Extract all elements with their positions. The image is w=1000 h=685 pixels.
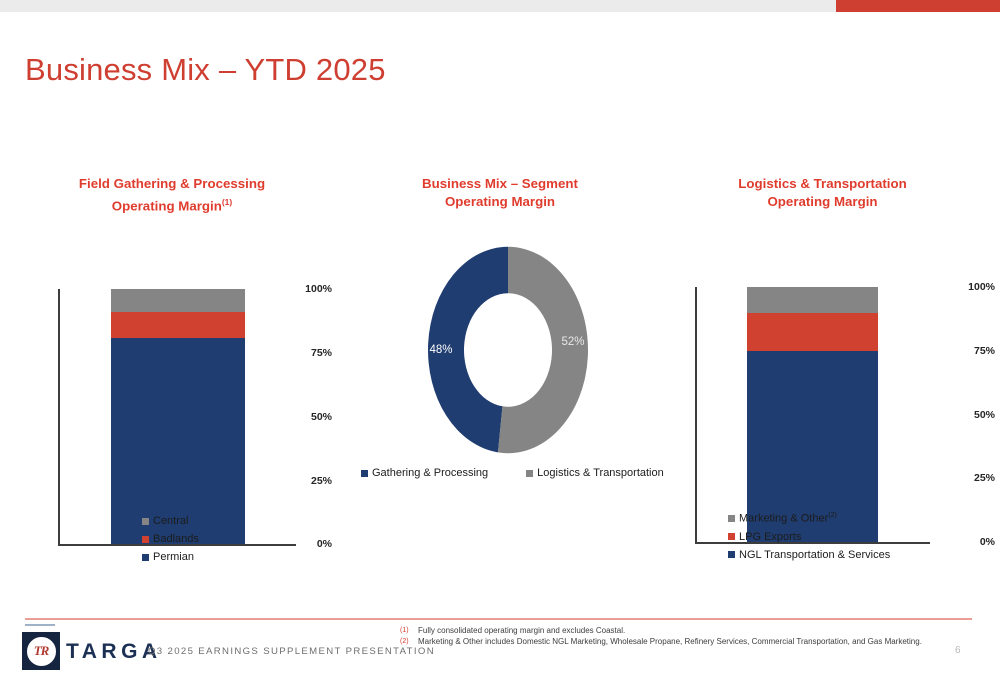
y-tick-1-25: 25% <box>290 475 332 487</box>
legend-label: Marketing & Other(2) <box>739 512 837 525</box>
top-bar-red-accent <box>836 0 1000 12</box>
footnote-text-1: Fully consolidated operating margin and … <box>418 626 625 635</box>
bar-segment-central[interactable] <box>111 289 245 312</box>
footnote-text-2: Marketing & Other includes Domestic NGL … <box>418 637 922 646</box>
targa-logo-icon: TR <box>22 632 60 670</box>
chart-panel-field-gathering: Field Gathering & Processing Operating M… <box>12 175 332 527</box>
legend-item-logistics-transportation[interactable]: Logistics & Transportation <box>526 467 664 479</box>
legend-label: Badlands <box>153 533 199 545</box>
legend-label: Permian <box>153 551 194 563</box>
top-bar-gray <box>0 0 836 12</box>
page-number: 6 <box>955 645 961 656</box>
y-tick-3-0: 0% <box>954 536 995 548</box>
chart-title-1-line1: Field Gathering & Processing <box>79 176 265 191</box>
legend-chart-1: Central Badlands Permian <box>142 515 199 569</box>
legend-swatch-icon <box>142 554 149 561</box>
legend-swatch-icon <box>526 470 533 477</box>
y-tick-1-100: 100% <box>290 283 332 295</box>
footnotes-block: (1) Fully consolidated operating margin … <box>400 626 922 648</box>
footer-divider-red <box>25 618 972 620</box>
legend-item-central[interactable]: Central <box>142 515 199 527</box>
footnote-row-2: (2) Marketing & Other includes Domestic … <box>400 637 922 646</box>
stacked-bar-3[interactable] <box>747 287 878 542</box>
footnote-marker-1: (1) <box>400 626 418 634</box>
chart-title-2-line1: Business Mix – Segment <box>422 176 578 191</box>
footnote-marker-2: (2) <box>400 637 418 645</box>
y-tick-3-50: 50% <box>954 409 995 421</box>
y-tick-1-0: 0% <box>290 538 332 550</box>
page-title: Business Mix – YTD 2025 <box>25 52 386 88</box>
y-axis-line-1 <box>58 289 60 544</box>
legend-chart-3: Marketing & Other(2) LPG Exports NGL Tra… <box>728 512 890 567</box>
legend-footnote-marker: (2) <box>828 512 837 519</box>
legend-label: NGL Transportation & Services <box>739 549 890 561</box>
bar-segment-badlands[interactable] <box>111 312 245 338</box>
legend-item-lpg-exports[interactable]: LPG Exports <box>728 531 890 543</box>
y-tick-3-100: 100% <box>954 281 995 293</box>
legend-item-ngl-transportation[interactable]: NGL Transportation & Services <box>728 549 890 561</box>
chart-title-3-line1: Logistics & Transportation <box>738 176 906 191</box>
legend-swatch-icon <box>728 533 735 540</box>
legend-label: Logistics & Transportation <box>537 467 664 479</box>
legend-label: LPG Exports <box>739 531 801 543</box>
chart-title-3-line2: Operating Margin <box>767 194 877 209</box>
legend-swatch-icon <box>728 515 735 522</box>
y-tick-3-75: 75% <box>954 345 995 357</box>
bar-chart-3: 100% 75% 50% 25% 0% <box>650 223 995 523</box>
slide-canvas: Business Mix – YTD 2025 Field Gathering … <box>0 0 1000 685</box>
footnote-row-1: (1) Fully consolidated operating margin … <box>400 626 922 635</box>
legend-label: Gathering & Processing <box>372 467 488 479</box>
chart-title-3: Logistics & Transportation Operating Mar… <box>650 175 995 211</box>
deck-name-label: Q3 2025 EARNINGS SUPPLEMENT PRESENTATION <box>148 646 435 657</box>
legend-label-text: Marketing & Other <box>739 513 828 525</box>
y-axis-line-3 <box>695 287 697 542</box>
y-tick-3-25: 25% <box>954 472 995 484</box>
legend-swatch-icon <box>142 536 149 543</box>
stacked-bar-1[interactable] <box>111 289 245 544</box>
chart-panel-logistics-transportation: Logistics & Transportation Operating Mar… <box>650 175 995 523</box>
chart-title-1-line2: Operating Margin <box>112 198 222 213</box>
legend-swatch-icon <box>728 551 735 558</box>
donut-value-label-gathering: 48% <box>429 344 452 356</box>
legend-chart-2: Gathering & Processing Logistics & Trans… <box>361 467 664 479</box>
bar-segment-permian[interactable] <box>111 338 245 545</box>
donut-svg <box>355 233 645 463</box>
donut-chart-2: 48% 52% <box>355 233 645 463</box>
donut-value-label-logistics: 52% <box>561 336 584 348</box>
bar-segment-marketing-other[interactable] <box>747 287 878 313</box>
legend-item-marketing-other[interactable]: Marketing & Other(2) <box>728 512 890 525</box>
legend-item-gathering-processing[interactable]: Gathering & Processing <box>361 467 488 479</box>
bar-segment-lpg-exports[interactable] <box>747 313 878 351</box>
targa-monogram: TR <box>25 635 58 668</box>
bar-chart-1: 100% 75% 50% 25% 0% <box>12 227 332 527</box>
legend-item-permian[interactable]: Permian <box>142 551 199 563</box>
footer-divider-blue <box>25 624 55 626</box>
donut-slice-logistics-transportation[interactable] <box>498 247 588 453</box>
legend-item-badlands[interactable]: Badlands <box>142 533 199 545</box>
legend-label: Central <box>153 515 188 527</box>
y-tick-1-50: 50% <box>290 411 332 423</box>
legend-swatch-icon <box>142 518 149 525</box>
chart-title-2: Business Mix – Segment Operating Margin <box>355 175 645 211</box>
chart-panel-business-mix: Business Mix – Segment Operating Margin … <box>355 175 645 463</box>
chart-title-1-footnote-marker: (1) <box>222 197 232 207</box>
chart-title-1: Field Gathering & Processing Operating M… <box>12 175 332 215</box>
y-tick-1-75: 75% <box>290 347 332 359</box>
legend-swatch-icon <box>361 470 368 477</box>
chart-title-2-line2: Operating Margin <box>445 194 555 209</box>
